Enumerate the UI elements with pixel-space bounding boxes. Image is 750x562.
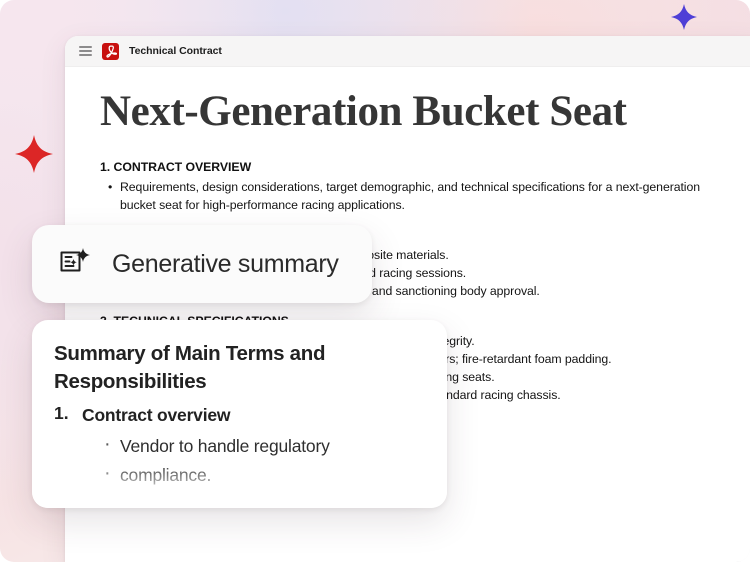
section-heading: 1. CONTRACT OVERVIEW — [100, 160, 731, 174]
summary-list: 1. Contract overview Vendor to handle re… — [54, 403, 425, 490]
pdf-icon — [102, 43, 119, 60]
summary-bullet: Vendor to handle regulatory — [102, 432, 425, 461]
page-title: Next-Generation Bucket Seat — [100, 89, 731, 134]
summary-item-number: 1. — [54, 403, 69, 424]
summary-bullet: compliance. — [102, 461, 425, 490]
document-sparkle-icon — [56, 244, 92, 285]
generative-summary-card[interactable]: Generative summary — [32, 225, 372, 303]
summary-sublist: Vendor to handle regulatory compliance. — [82, 432, 425, 490]
section-list: Requirements, design considerations, tar… — [100, 178, 731, 214]
hamburger-icon[interactable] — [79, 46, 92, 56]
sparkle-purple-icon — [670, 3, 698, 31]
document-section: 1. CONTRACT OVERVIEW Requirements, desig… — [100, 160, 731, 214]
summary-content: Summary of Main Terms and Responsibiliti… — [32, 320, 447, 490]
summary-list-item: 1. Contract overview Vendor to handle re… — [54, 403, 425, 490]
summary-title: Summary of Main Terms and Responsibiliti… — [54, 340, 425, 396]
document-title: Technical Contract — [129, 45, 222, 57]
screenshot-stage: Technical Contract Next-Generation Bucke… — [0, 0, 750, 562]
summary-item-heading: Contract overview — [82, 405, 230, 425]
generative-summary-label: Generative summary — [112, 250, 339, 279]
list-item: Requirements, design considerations, tar… — [100, 178, 731, 214]
summary-panel: Summary of Main Terms and Responsibiliti… — [32, 320, 447, 508]
document-titlebar: Technical Contract — [65, 36, 750, 67]
sparkle-red-icon — [14, 134, 54, 174]
